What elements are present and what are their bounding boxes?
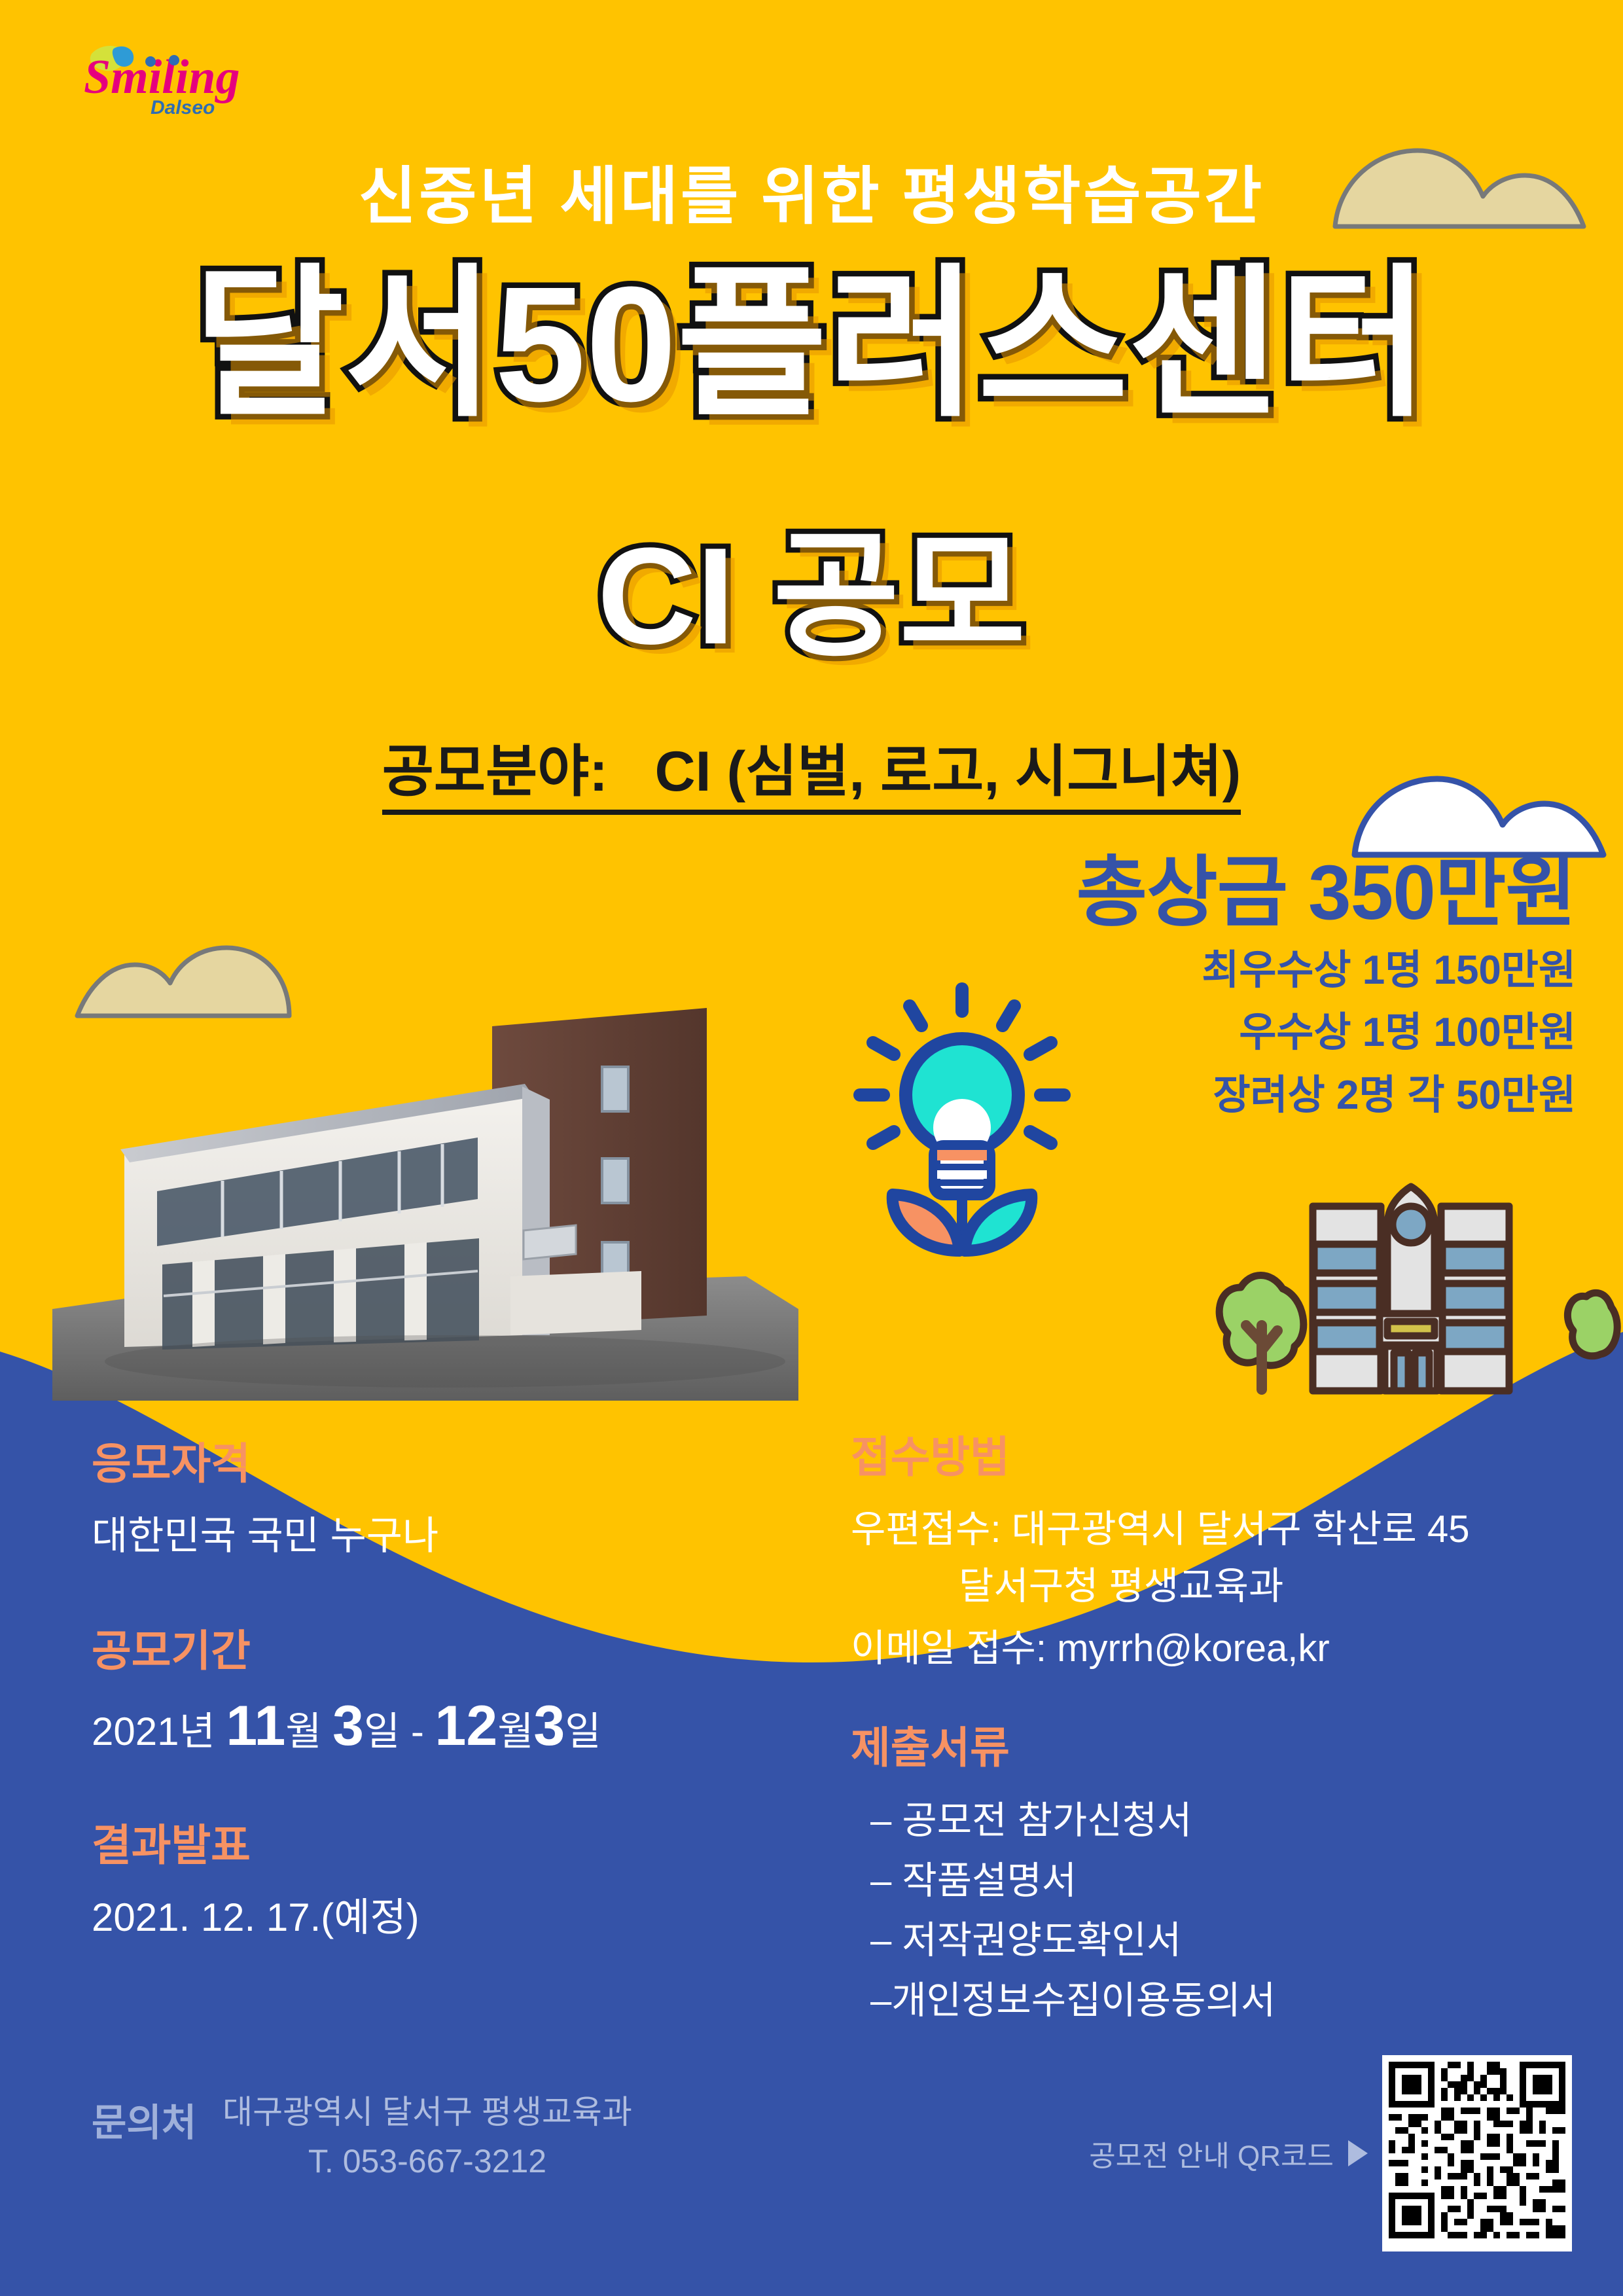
- period-day2-unit: 일: [565, 1710, 601, 1753]
- period-heading: 공모기간: [92, 1627, 779, 1675]
- poster-root: Smiling Dalseo 신중년 세대를 위한 평생학습공간 달서50플러스…: [0, 0, 1623, 2296]
- submit-heading: 접수방법: [851, 1433, 1584, 1481]
- logo-subword: Dalseo: [151, 97, 215, 118]
- docs-heading: 제출서류: [851, 1724, 1584, 1772]
- logo-wordmark: Smiling: [84, 50, 240, 104]
- center-building-photo: [52, 969, 798, 1401]
- qr-label: 공모전 안내 QR코드: [1089, 2132, 1334, 2174]
- cloud-icon-left: [72, 936, 294, 1021]
- prize-block: 총상금 350만원 최우수상 1명 150만원 우수상 1명 100만원 장려상…: [1077, 851, 1576, 1123]
- period-month1: 11: [226, 1695, 285, 1757]
- prize-item-2: 우수상 1명 100만원: [1077, 1005, 1576, 1061]
- prize-item-3: 장려상 2명 각 50만원: [1077, 1067, 1576, 1124]
- contact-tel[interactable]: T. 053-667-3212: [223, 2137, 632, 2186]
- submit-email[interactable]: 이메일 접수: myrrh@korea,kr: [851, 1620, 1584, 1677]
- period-day1: 3: [332, 1695, 364, 1757]
- list-item: – 작품설명서: [870, 1851, 1584, 1911]
- list-item: – 저작권양도확인서: [870, 1910, 1584, 1971]
- result-body: 2021. 12. 17.(예정): [92, 1889, 779, 1946]
- lightbulb-plant-icon: [838, 978, 1086, 1266]
- qr-block[interactable]: 공모전 안내 QR코드: [1089, 2055, 1572, 2251]
- period-body: 2021년 11월 3일 - 12월3일: [92, 1694, 779, 1759]
- footer-contact: 문의처 대구광역시 달서구 평생교육과 T. 053-667-3212: [92, 2088, 632, 2186]
- category-value: CI (심벌, 로고, 시그니쳐): [655, 740, 1241, 803]
- period-month2-unit: 월: [497, 1710, 533, 1753]
- eligibility-heading: 응모자격: [92, 1440, 779, 1488]
- info-right-column: 접수방법 우편접수: 대구광역시 달서구 학산로 45 달서구청 평생교육과 이…: [851, 1433, 1584, 2031]
- period-month1-unit: 월: [285, 1710, 332, 1753]
- period-day2: 3: [533, 1695, 565, 1757]
- logo-dot-right: [169, 55, 179, 65]
- logo-dot-left: [145, 56, 156, 67]
- docs-list: – 공모전 참가신청서 – 작품설명서 – 저작권양도확인서 –개인정보수집이용…: [870, 1791, 1584, 2031]
- period-year: 2021년: [92, 1710, 226, 1753]
- list-item: –개인정보수집이용동의서: [870, 1971, 1584, 2031]
- poster-subtitle: 신중년 세대를 위한 평생학습공간: [0, 145, 1623, 236]
- contact-label: 문의처: [92, 2092, 196, 2147]
- eligibility-body: 대한민국 국민 누구나: [92, 1507, 779, 1564]
- submit-address-line2: 달서구청 평생교육과: [959, 1558, 1584, 1615]
- qr-code-icon[interactable]: [1382, 2055, 1572, 2251]
- list-item: – 공모전 참가신청서: [870, 1791, 1584, 1851]
- submit-address-line1: 우편접수: 대구광역시 달서구 학산로 45: [851, 1501, 1584, 1558]
- smiling-dalseo-logo: Smiling Dalseo: [51, 31, 287, 123]
- city-buildings-icon: [1191, 1162, 1623, 1397]
- prize-total: 총상금 350만원: [1077, 851, 1576, 936]
- period-day1-unit: 일 -: [364, 1710, 435, 1753]
- contact-org: 대구광역시 달서구 평생교육과: [223, 2088, 632, 2137]
- period-month2: 12: [435, 1695, 498, 1757]
- qr-arrow-icon: [1348, 2140, 1368, 2166]
- page-title-line2: CI 공모: [0, 484, 1623, 683]
- category-label: 공모분야:: [382, 740, 608, 803]
- prize-item-1: 최우수상 1명 150만원: [1077, 942, 1576, 999]
- category-line: 공모분야: CI (심벌, 로고, 시그니쳐): [0, 725, 1623, 807]
- result-heading: 결과발표: [92, 1821, 779, 1869]
- page-title: 달서50플러스센터: [0, 260, 1623, 427]
- info-left-column: 응모자격 대한민국 국민 누구나 공모기간 2021년 11월 3일 - 12월…: [92, 1440, 779, 1992]
